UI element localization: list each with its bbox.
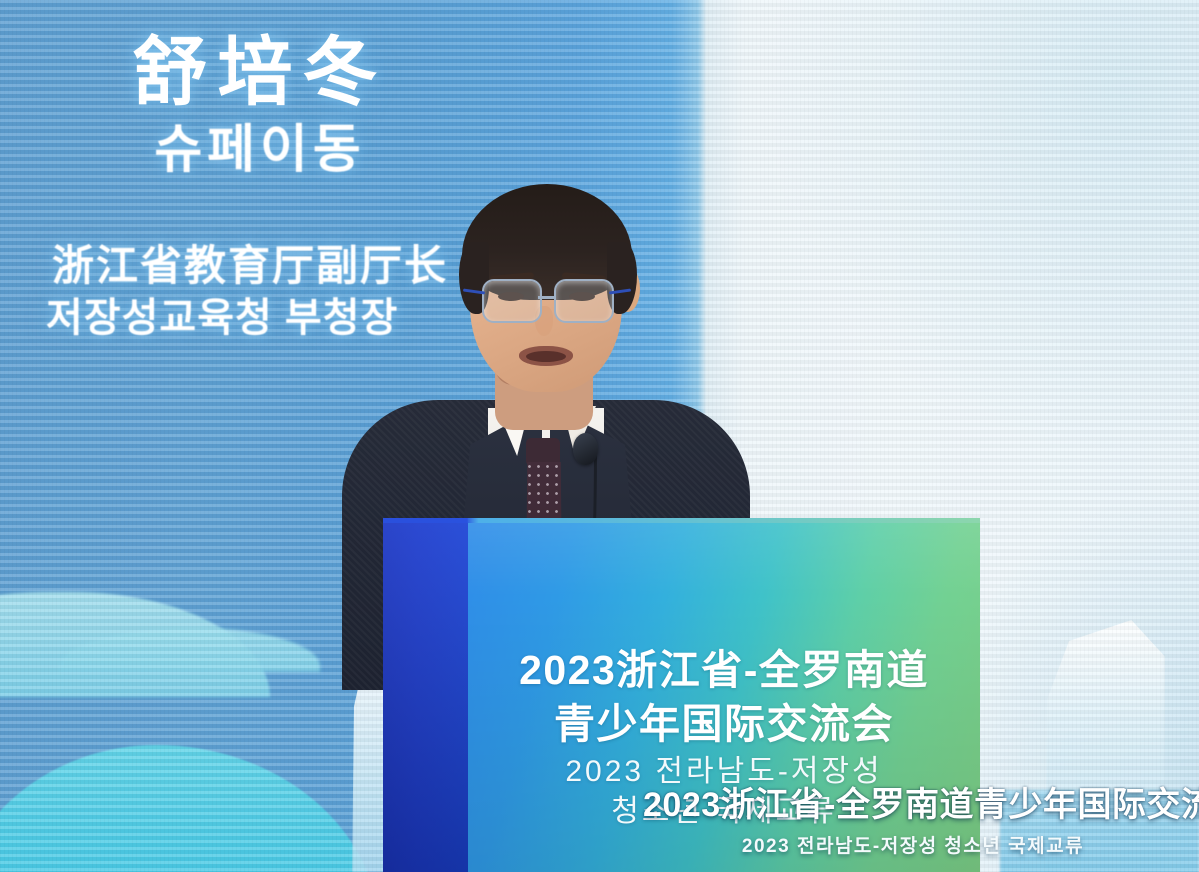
speaker-figure [330, 150, 760, 550]
speaker-name-chinese: 舒培冬 [0, 36, 520, 110]
screenshot-root: 舒培冬 슈페이동 浙江省教育厅副厅长 저장성교육청 부청장 [0, 0, 1199, 872]
eyeglasses-lens-left [482, 279, 542, 323]
podium-signage: 2023浙江省-全罗南道 青少年国际交流会 2023 전라남도-저장성 청소년 … [468, 518, 980, 872]
podium-title-korean-line2: 청소년 국제교류 [468, 786, 980, 830]
eyeglasses-lens-right [554, 279, 614, 323]
podium-title-chinese-line2: 青少年国际交流会 [468, 690, 980, 750]
podium-title-chinese-line1: 2023浙江省-全罗南道 [468, 636, 980, 696]
podium: 2023浙江省-全罗南道 青少年国际交流会 2023 전라남도-저장성 청소년 … [383, 518, 980, 872]
microphone-icon [573, 433, 598, 465]
podium-title-korean-line1: 2023 전라남도-저장성 [468, 746, 980, 790]
mouth-interior [526, 351, 566, 362]
necktie-knot [526, 438, 560, 466]
background-water-right [1000, 790, 1199, 872]
eyeglasses-bridge [538, 296, 554, 299]
podium-side-shading [383, 518, 468, 872]
